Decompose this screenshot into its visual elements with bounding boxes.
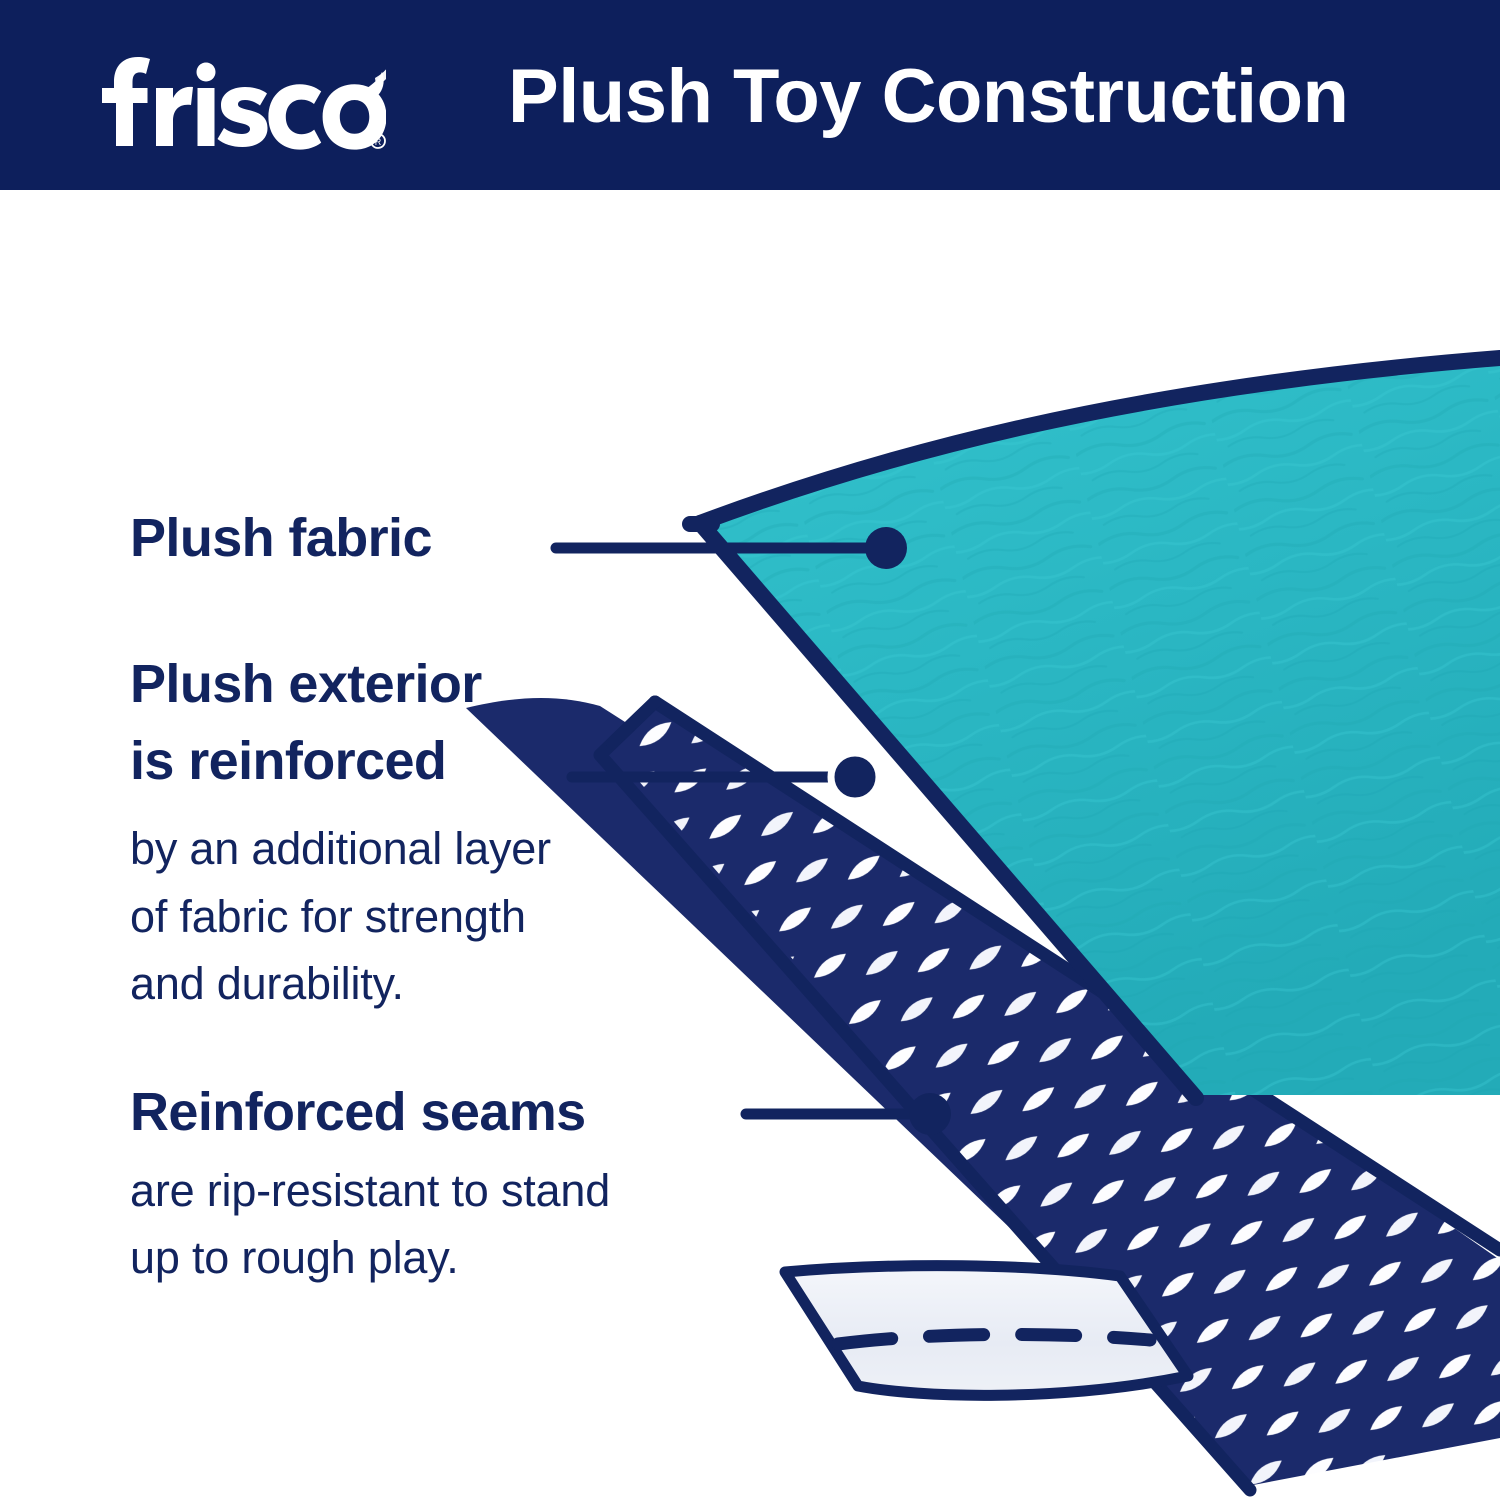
callout-marker-reinforced-seams	[909, 1093, 951, 1135]
callout-body-plush-exterior: by an additional layer of fabric for str…	[130, 815, 730, 1018]
callout-body-reinforced-seams: are rip-resistant to stand up to rough p…	[130, 1157, 790, 1292]
reinforced-seam-flap	[785, 1266, 1188, 1396]
svg-text:R: R	[375, 137, 382, 147]
callout-reinforced-seams: Reinforced seams are rip-resistant to st…	[130, 1074, 790, 1292]
callout-marker-plush-exterior	[831, 753, 879, 801]
infographic-page: R Plush Toy Construction	[0, 0, 1500, 1500]
page-title: Plush Toy Construction	[508, 44, 1408, 149]
frisco-wordmark-logo: R	[86, 44, 386, 154]
callout-plush-fabric: Plush fabric	[130, 500, 600, 577]
callout-marker-plush-fabric	[865, 527, 907, 569]
callout-heading-plush-exterior: Plush exterior is reinforced	[130, 646, 730, 799]
callout-heading-plush-fabric: Plush fabric	[130, 500, 600, 577]
callout-plush-exterior: Plush exterior is reinforced by an addit…	[130, 646, 730, 1018]
header-bar: R Plush Toy Construction	[0, 0, 1500, 190]
callout-heading-reinforced-seams: Reinforced seams	[130, 1074, 790, 1151]
